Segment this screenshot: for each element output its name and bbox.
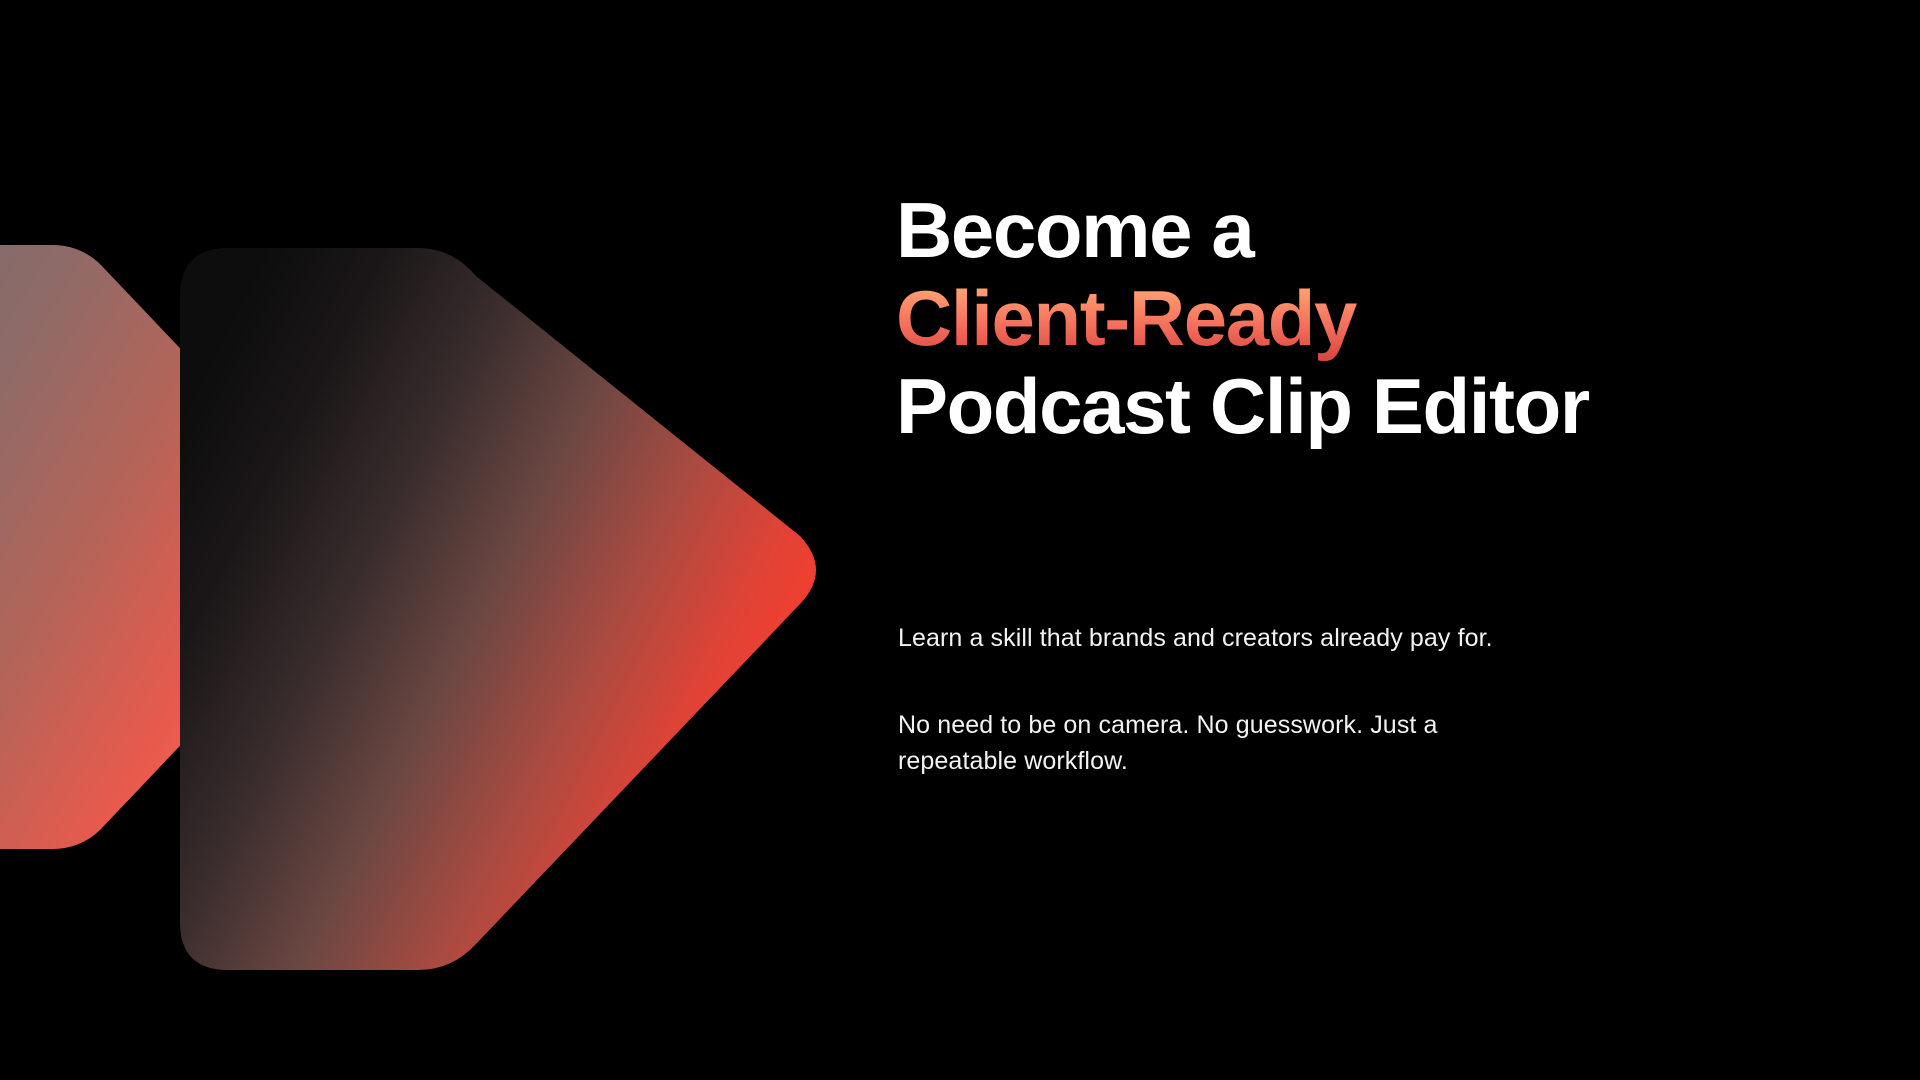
headline-line-1: Become a [896,186,1896,274]
slide-canvas: Become a Client-Ready Podcast Clip Edito… [0,0,1920,1080]
double-chevron-icon [0,0,900,1080]
text-column: Become a Client-Ready Podcast Clip Edito… [896,0,1896,1080]
body-paragraph-2: No need to be on camera. No guesswork. J… [898,707,1530,779]
chevron-back-shape [0,245,357,849]
headline-accent-line: Client-Ready [896,274,1896,362]
page-title: Become a Client-Ready Podcast Clip Edito… [896,186,1896,450]
headline-line-3: Podcast Clip Editor [896,362,1896,450]
body-paragraph-1: Learn a skill that brands and creators a… [898,620,1598,656]
chevron-front-shape [180,248,816,970]
body-copy: Learn a skill that brands and creators a… [898,620,1598,779]
